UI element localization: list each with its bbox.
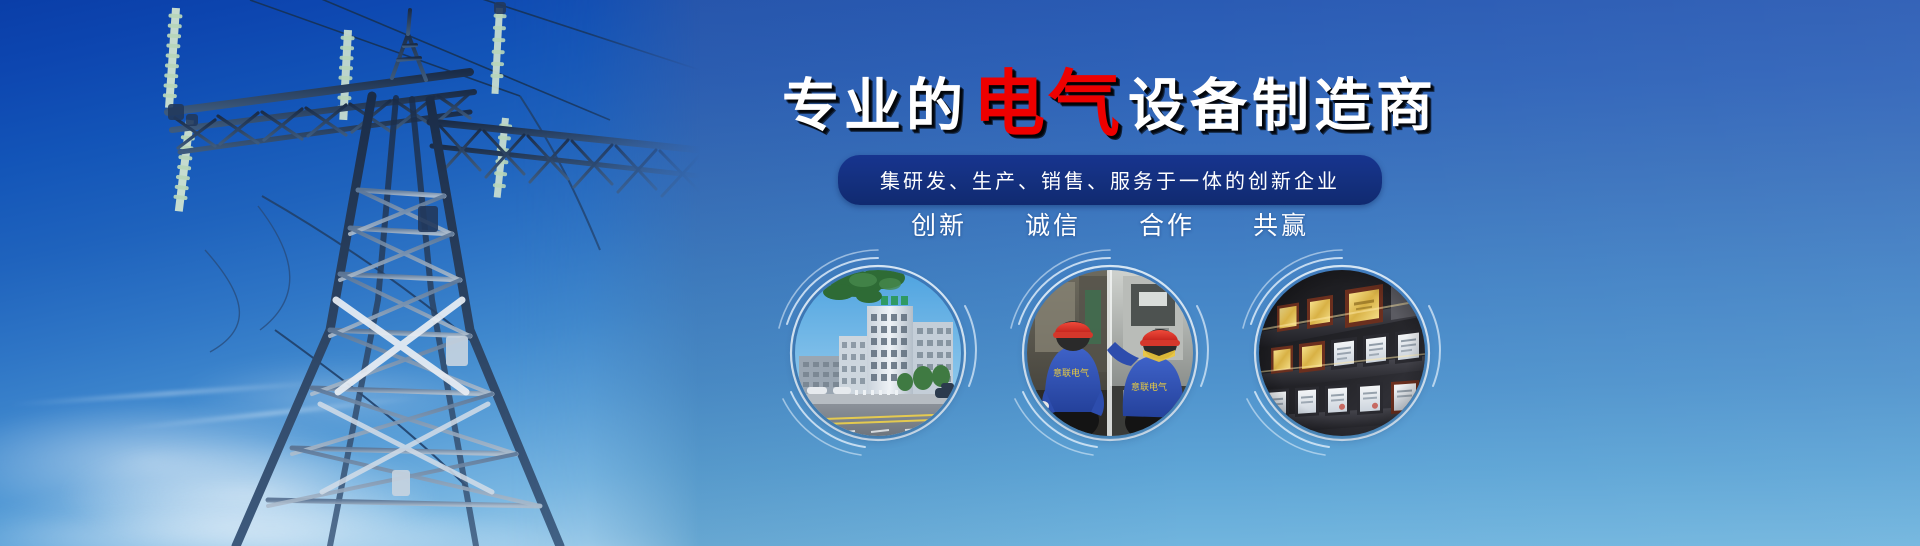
keyword-item-cooperation: 合作 [1139,206,1195,242]
svg-text:意联电气: 意联电气 [1131,381,1167,393]
power-transmission-tower-photo [0,0,700,546]
headline-part-2: 设备制造商 [1128,78,1438,135]
photo-circle-honor-wall[interactable] [1247,258,1437,448]
page-title: 专业的 电气 设备制造商 [660,63,1560,135]
headline-highlight: 电气 [973,68,1123,140]
keyword-item-innovation: 创新 [911,206,967,242]
svg-text:意联电气: 意联电气 [1053,367,1089,379]
keyword-list: 创新 诚信 合作 共赢 [660,206,1560,242]
keyword-item-winwin: 共赢 [1253,206,1309,242]
keyword-item-integrity: 诚信 [1025,206,1081,242]
headline-part-1: 专业的 [782,78,968,135]
honor-wall-image [1259,270,1425,436]
photo-circle-list: 意联电气 [660,258,1560,448]
photo-circle-workers[interactable]: 意联电气 [1015,258,1205,448]
subtitle-pill: 集研发、生产、销售、服务于一体的创新企业 [838,155,1382,205]
photo-circle-office-building[interactable] [783,258,973,448]
hero-banner: 专业的 电气 设备制造商 集研发、生产、销售、服务于一体的创新企业 创新 诚信 … [0,0,1920,546]
banner-content: 专业的 电气 设备制造商 集研发、生产、销售、服务于一体的创新企业 创新 诚信 … [660,0,1560,546]
office-building-image [795,270,961,436]
lattice-tower-structure [0,0,700,546]
workers-image: 意联电气 [1027,270,1193,436]
subtitle-pill-wrapper: 集研发、生产、销售、服务于一体的创新企业 [660,155,1560,205]
